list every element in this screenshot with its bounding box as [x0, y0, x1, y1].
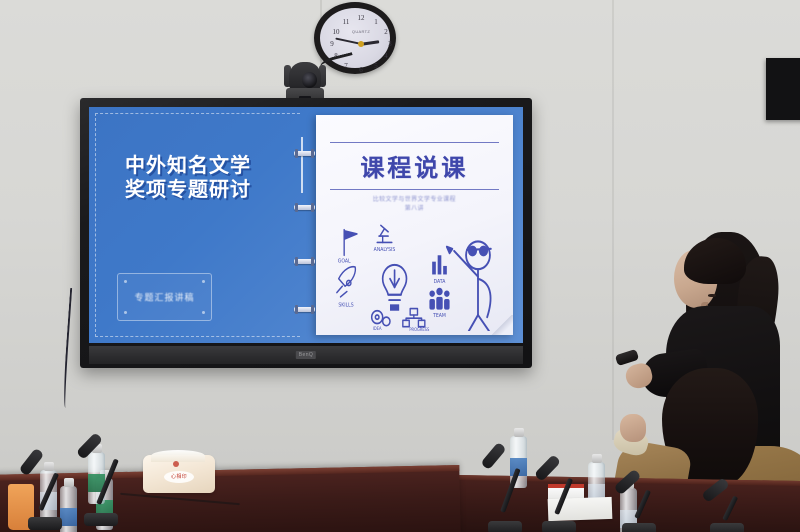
flag-icon [344, 230, 357, 256]
bottle-cap [514, 428, 524, 437]
microphone-capsule [701, 477, 730, 503]
slide-title: 中外知名文学 奖项专题研讨 [125, 153, 290, 202]
svg-text:DATA: DATA [433, 279, 445, 285]
plaque-corner-dot [202, 280, 205, 283]
paper-subtitle-line1: 比较文学与世界文学专业课程 [316, 195, 513, 204]
tissue-opening [151, 450, 205, 462]
gooseneck-microphone-5 [616, 466, 662, 532]
microphone-neck [722, 496, 738, 522]
gooseneck-microphone-6 [700, 474, 750, 532]
clock-center-pin [358, 41, 364, 47]
binder-ring [294, 307, 315, 312]
clock-numeral: 5 [374, 62, 378, 70]
paper-title: 课程说课 [316, 148, 513, 183]
clock-numeral: 9 [330, 40, 334, 48]
plaque-text: 专题汇报讲稿 [118, 291, 211, 304]
microphone-base [710, 523, 744, 532]
microphone-capsule [76, 432, 103, 460]
wall-seam [612, 0, 614, 440]
display-screen[interactable]: 中外知名文学 奖项专题研讨 专题汇报讲稿 [89, 107, 523, 343]
clock-numeral: 12 [358, 14, 365, 22]
analysis-icon [377, 225, 392, 242]
svg-text:GOAL: GOAL [337, 258, 350, 264]
clock-numeral: 4 [384, 52, 388, 60]
paper-subtitle-line2: 第八讲 [316, 204, 513, 213]
clock-numeral: 1 [374, 18, 378, 26]
plaque-corner-dot [202, 311, 205, 314]
tissue-brand-mark: 心相印 [164, 471, 194, 483]
microphone-base [28, 517, 62, 530]
wall-speaker-panel [766, 58, 800, 120]
slide-title-line2: 奖项专题研讨 [125, 177, 290, 201]
microphone-neck [38, 472, 59, 511]
microphone-capsule [613, 469, 641, 496]
microphone-base [488, 521, 522, 532]
gooseneck-microphone-3 [482, 440, 528, 532]
notebook-paper: 课程说课 比较文学与世界文学专业课程 第八讲 [316, 115, 513, 335]
clock-hour-hand [361, 40, 379, 45]
microphone-capsule [480, 442, 506, 471]
display-chin: BenQ [89, 346, 523, 364]
clock-numeral: 3 [388, 40, 392, 48]
gooseneck-microphone-4 [536, 452, 582, 532]
binder-ring [294, 259, 315, 264]
paper-rule-bottom [330, 189, 499, 190]
presentation-slide: 中外知名文学 奖项专题研讨 专题汇报讲稿 [89, 107, 523, 343]
microphone-capsule [534, 454, 561, 482]
data-icon [432, 255, 447, 274]
team-icon [429, 288, 449, 310]
tissue-brand-dot [173, 461, 179, 467]
binder-rings [294, 107, 316, 343]
plaque-corner-dot [124, 311, 127, 314]
bottle-cap [592, 454, 602, 463]
stick-figure-icon [446, 241, 490, 331]
display-brand-logo: BenQ [296, 351, 316, 359]
microphone-neck [554, 478, 573, 515]
rocket-icon [336, 267, 355, 297]
slide-title-line1: 中外知名文学 [125, 153, 251, 177]
slide-left-panel: 中外知名文学 奖项专题研讨 专题汇报讲稿 [89, 107, 302, 343]
gooseneck-microphone-1 [24, 446, 64, 530]
camera-lens [302, 72, 317, 88]
microphone-base [84, 513, 118, 526]
gooseneck-microphone-2 [76, 430, 122, 526]
lightbulb-icon [382, 265, 406, 311]
microphone-neck [96, 459, 119, 505]
presenter-hair-front [684, 238, 746, 284]
structure-icon [402, 309, 424, 327]
svg-text:IDEA: IDEA [372, 326, 381, 331]
clock-numeral: 10 [333, 28, 340, 36]
svg-text:TEAM: TEAM [432, 313, 446, 319]
hand-drawn-doodles: GOAL ANALYSIS [324, 219, 507, 331]
paper-curl [491, 315, 513, 335]
binder-ring [294, 205, 315, 210]
plaque-corner-dot [124, 280, 127, 283]
slide-right-panel: 课程说课 比较文学与世界文学专业课程 第八讲 [302, 107, 523, 343]
microphone-base [542, 521, 576, 532]
svg-text:SKILLS: SKILLS [338, 302, 353, 308]
presenter-eye [708, 294, 716, 297]
gear-icon [371, 311, 389, 326]
clock-numeral: 2 [384, 28, 388, 36]
bottle-cap [64, 478, 74, 487]
tissue-pack: 心相印 [143, 455, 215, 493]
binder-ring [294, 151, 315, 156]
interactive-flat-panel[interactable]: 中外知名文学 奖项专题研讨 专题汇报讲稿 [80, 98, 532, 368]
attendee-hand [620, 414, 646, 442]
microphone-neck [500, 468, 520, 513]
conference-room-scene: 12 1 2 3 4 5 6 7 8 9 10 11 QUARTZ [0, 0, 800, 532]
camera-head [289, 62, 321, 90]
microphone-neck [634, 490, 651, 519]
svg-text:PROGRESS: PROGRESS [409, 327, 429, 331]
clock-brand-text: QUARTZ [352, 29, 370, 34]
svg-text:ANALYSIS: ANALYSIS [373, 247, 395, 253]
clock-numeral: 11 [343, 18, 350, 26]
paper-subtitle: 比较文学与世界文学专业课程 第八讲 [316, 195, 513, 213]
microphone-base [622, 523, 656, 532]
slide-plaque: 专题汇报讲稿 [117, 273, 212, 321]
paper-rule-top [330, 142, 499, 143]
clock-numeral: 6 [359, 66, 363, 74]
